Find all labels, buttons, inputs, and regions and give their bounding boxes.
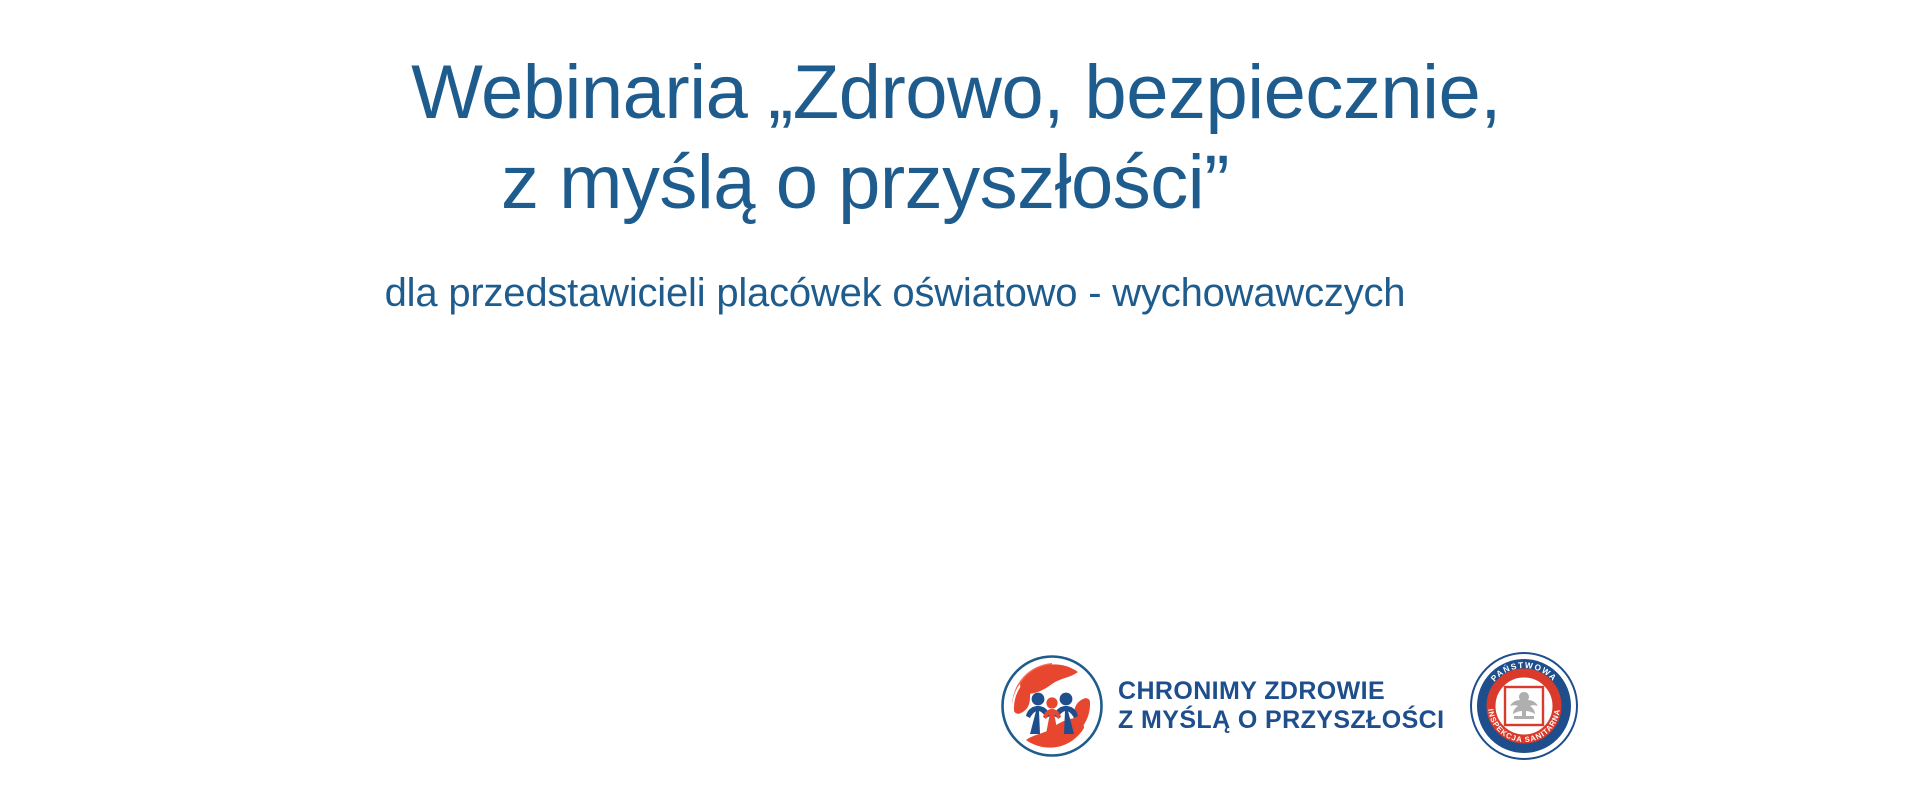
subtitle-text: dla przedstawicieli placówek oświatowo -… xyxy=(0,268,1920,318)
chronimy-zdrowie-wordmark: CHRONIMY ZDROWIE Z MYŚLĄ O PRZYSZŁOŚCI xyxy=(1118,677,1444,736)
panstwowa-inspekcja-sanitarna-icon: PAŃSTWOWA INSPEKCJA SANITARNA Państwowa … xyxy=(1470,652,1578,760)
title-line-2: z myślą o przyszłości” xyxy=(0,138,1920,228)
logo-strip: CHRONIMY ZDROWIE Z MYŚLĄ O PRZYSZŁOŚCI xyxy=(1000,646,1900,766)
chronimy-line-2: Z MYŚLĄ O PRZYSZŁOŚCI xyxy=(1118,706,1444,736)
sanitary-logo-label: Państwowa Inspekcja Sanitarna xyxy=(1578,652,1579,653)
chronimy-line-1: CHRONIMY ZDROWIE xyxy=(1118,677,1444,707)
chronimy-zdrowie-icon xyxy=(1000,654,1104,758)
page-title: Webinaria „Zdrowo, bezpiecznie, z myślą … xyxy=(0,48,1920,227)
page-subtitle: dla przedstawicieli placówek oświatowo -… xyxy=(0,268,1920,318)
slide-canvas: Webinaria „Zdrowo, bezpiecznie, z myślą … xyxy=(0,0,1920,810)
logo-chronimy-zdrowie: CHRONIMY ZDROWIE Z MYŚLĄ O PRZYSZŁOŚCI xyxy=(1000,654,1444,758)
title-line-1: Webinaria „Zdrowo, bezpiecznie, xyxy=(0,48,1920,138)
